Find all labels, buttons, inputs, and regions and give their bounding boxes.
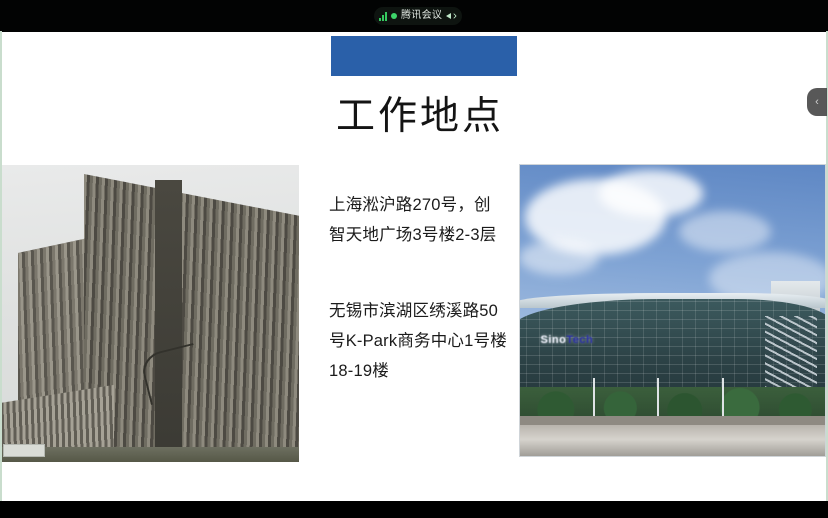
cloud (679, 211, 771, 252)
window-edge-left (0, 31, 2, 501)
speaker-icon[interactable] (446, 11, 457, 21)
road-strip (519, 425, 826, 457)
tech-park-photo: SinoTech (519, 164, 826, 457)
collapse-panel-handle[interactable]: ‹ (807, 88, 827, 116)
office-tower-photo (0, 165, 299, 462)
address-shanghai: 上海淞沪路270号，创智天地广场3号楼2-3层 (329, 190, 507, 250)
tower-main-facade (84, 174, 299, 462)
building-signage-suffix: Tech (566, 334, 593, 346)
meeting-status-pill[interactable]: 腾讯会议 (374, 7, 462, 25)
cloud (599, 170, 703, 217)
photo-corner-artifact (3, 444, 45, 457)
meeting-app-label: 腾讯会议 (401, 10, 442, 22)
recording-dot-icon (391, 13, 397, 19)
title-accent-bar (331, 36, 517, 76)
signal-bars-icon (379, 12, 387, 21)
screen-root: SinoTech 工作地点 上海淞沪路270号，创智天地广场3号楼2-3层 无锡… (0, 0, 828, 518)
curb-strip (519, 416, 826, 425)
chevron-left-icon: ‹ (815, 97, 819, 108)
slide-title: 工作地点 (336, 93, 586, 141)
address-wuxi: 无锡市滨湖区绣溪路50号K-Park商务中心1号楼18-19楼 (329, 296, 507, 386)
tower-core-column (155, 180, 182, 462)
status-bar: 腾讯会议 (0, 0, 828, 32)
building-signage-prefix: Sino (540, 334, 566, 346)
building-signage: SinoTech (540, 334, 593, 346)
cloud (519, 240, 599, 275)
bottom-black-band (0, 501, 828, 518)
presentation-slide: SinoTech 工作地点 上海淞沪路270号，创智天地广场3号楼2-3层 无锡… (0, 31, 828, 501)
